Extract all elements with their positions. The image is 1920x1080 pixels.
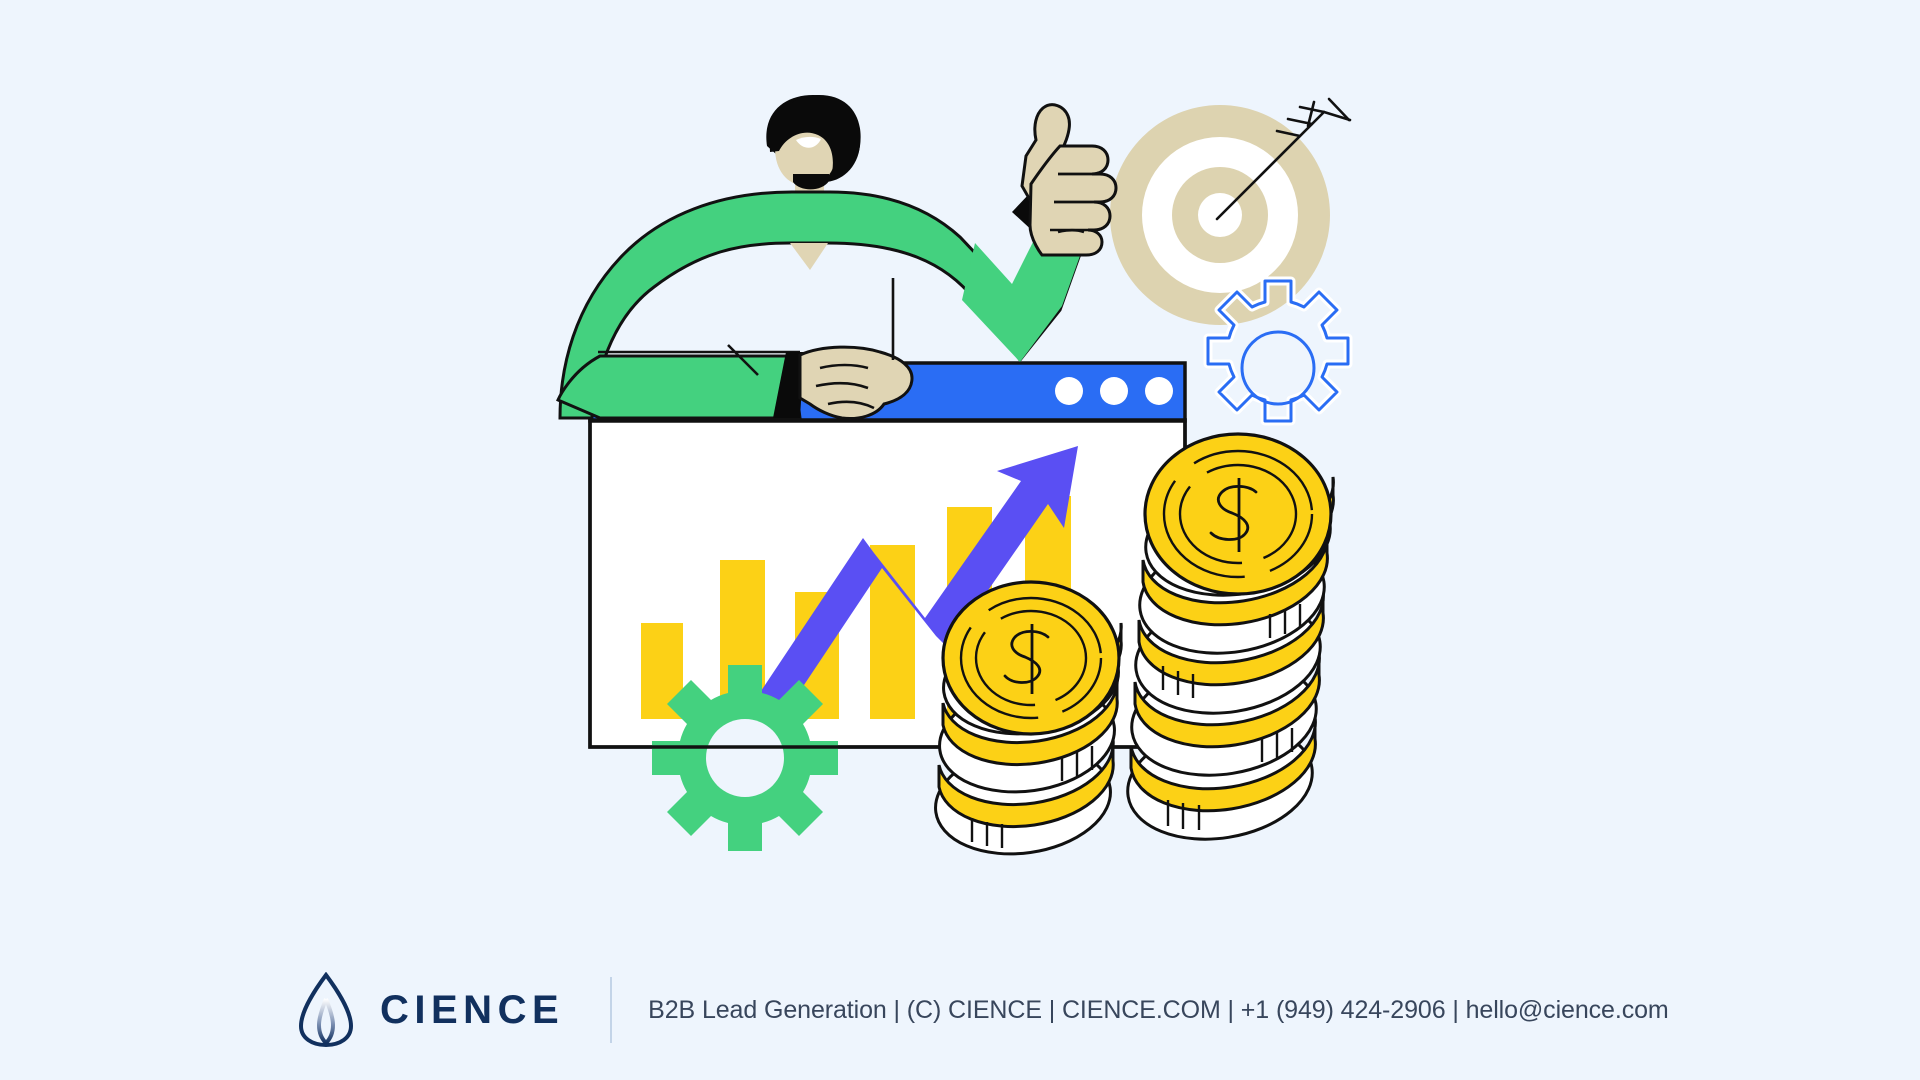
business-growth-illustration [0, 0, 1920, 940]
page-root: CIENCE B2B Lead Generation | (C) CIENCE … [0, 0, 1920, 1080]
cience-arch-logo-icon [298, 972, 354, 1048]
footer-bar: CIENCE B2B Lead Generation | (C) CIENCE … [0, 940, 1920, 1080]
window-dot-2 [1100, 377, 1128, 405]
coin-stack-back [1119, 434, 1338, 852]
window-dot-3 [1145, 377, 1173, 405]
cience-brand[interactable]: CIENCE [298, 972, 564, 1048]
coin-stack-front [928, 582, 1125, 865]
window-dot-1 [1055, 377, 1083, 405]
window-controls[interactable] [1055, 377, 1173, 405]
cience-wordmark: CIENCE [380, 990, 564, 1030]
footer-tagline: B2B Lead Generation | (C) CIENCE | CIENC… [648, 996, 1668, 1025]
footer-divider [610, 977, 612, 1043]
